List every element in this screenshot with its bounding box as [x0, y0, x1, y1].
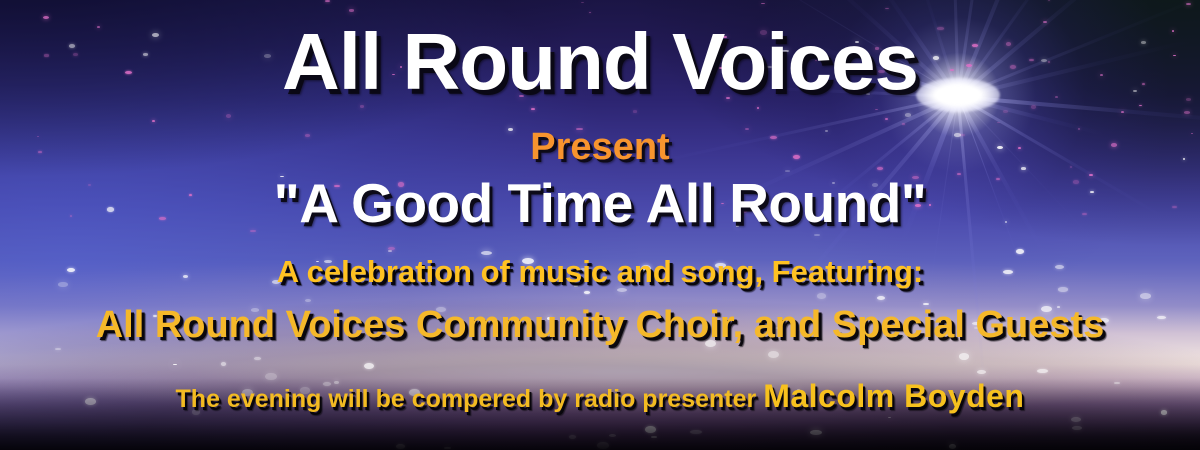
organisation-title: All Round Voices: [0, 22, 1200, 102]
tagline: A celebration of music and song, Featuri…: [0, 256, 1200, 287]
performers-line: All Round Voices Community Choir, and Sp…: [0, 306, 1200, 344]
compere-line: The evening will be compered by radio pr…: [0, 380, 1200, 412]
compere-name: Malcolm Boyden: [763, 378, 1024, 414]
show-title: "A Good Time All Round": [0, 176, 1200, 231]
compere-prefix: The evening will be compered by radio pr…: [176, 385, 757, 413]
present-label: Present: [0, 128, 1200, 166]
concert-poster: All Round Voices Present "A Good Time Al…: [0, 0, 1200, 450]
poster-text-block: All Round Voices Present "A Good Time Al…: [0, 0, 1200, 450]
